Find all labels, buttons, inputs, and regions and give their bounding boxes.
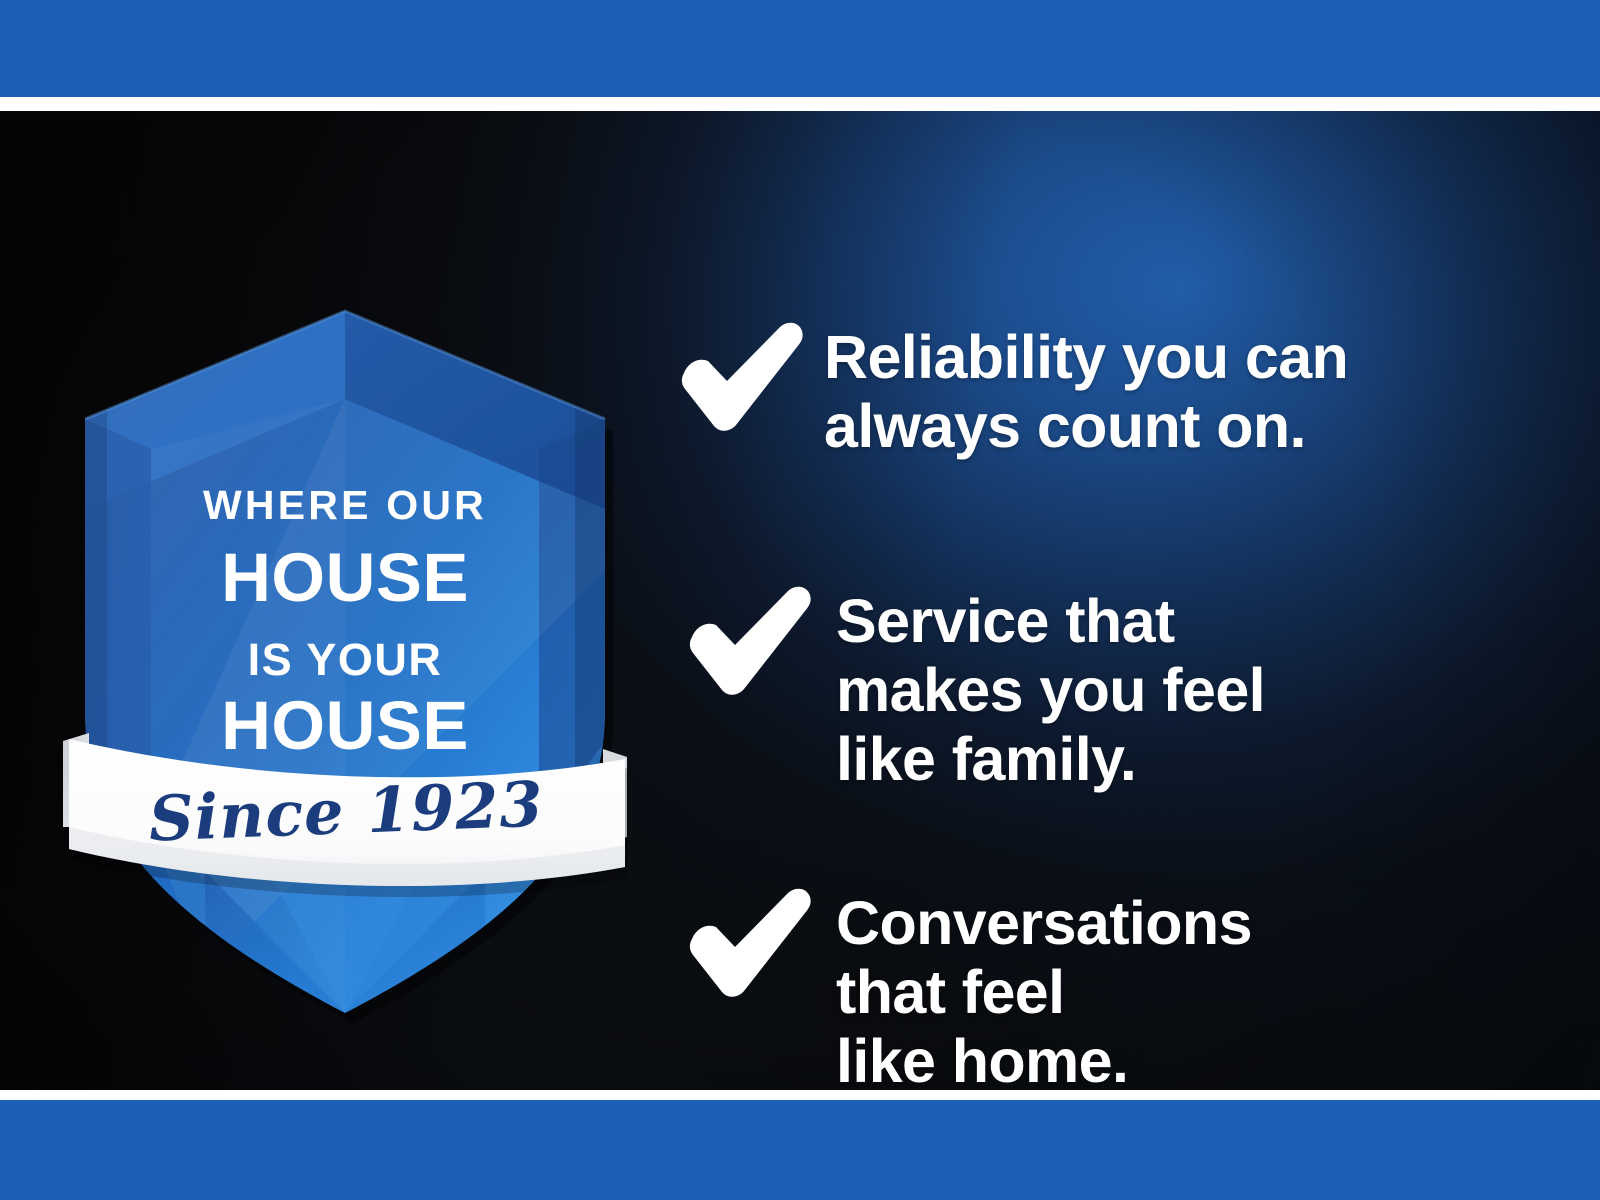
bottom-accent-bar (0, 1100, 1600, 1200)
list-item: Service that makes you feel like family. (680, 583, 1265, 794)
list-item: Reliability you can always count on. (672, 319, 1348, 461)
list-item-label: Reliability you can always count on. (824, 319, 1348, 461)
list-item-label: Service that makes you feel like family. (836, 583, 1265, 794)
list-item-label: Conversations that feel like home. (836, 885, 1252, 1090)
checkmark-icon (680, 885, 812, 1003)
shield-line-3: IS YOUR (248, 634, 443, 685)
shield-line-4: HOUSE (221, 687, 469, 764)
benefits-list: Reliability you can always count on. Ser… (672, 291, 1532, 1090)
checkmark-icon (672, 319, 804, 437)
shield-line-1: WHERE OUR (203, 482, 487, 528)
bottom-white-divider (0, 1090, 1600, 1100)
top-accent-bar (0, 0, 1600, 97)
ribbon-since-text: Since 1923 (148, 767, 545, 855)
content-stage: WHERE OUR HOUSE IS YOUR HOUSE (0, 111, 1600, 1090)
shield-line-2: HOUSE (221, 539, 469, 616)
promo-banner: WHERE OUR HOUSE IS YOUR HOUSE (0, 0, 1600, 1200)
top-white-divider (0, 97, 1600, 111)
list-item: Conversations that feel like home. (680, 885, 1252, 1090)
checkmark-icon (680, 583, 812, 701)
shield-emblem: WHERE OUR HOUSE IS YOUR HOUSE (55, 271, 635, 951)
